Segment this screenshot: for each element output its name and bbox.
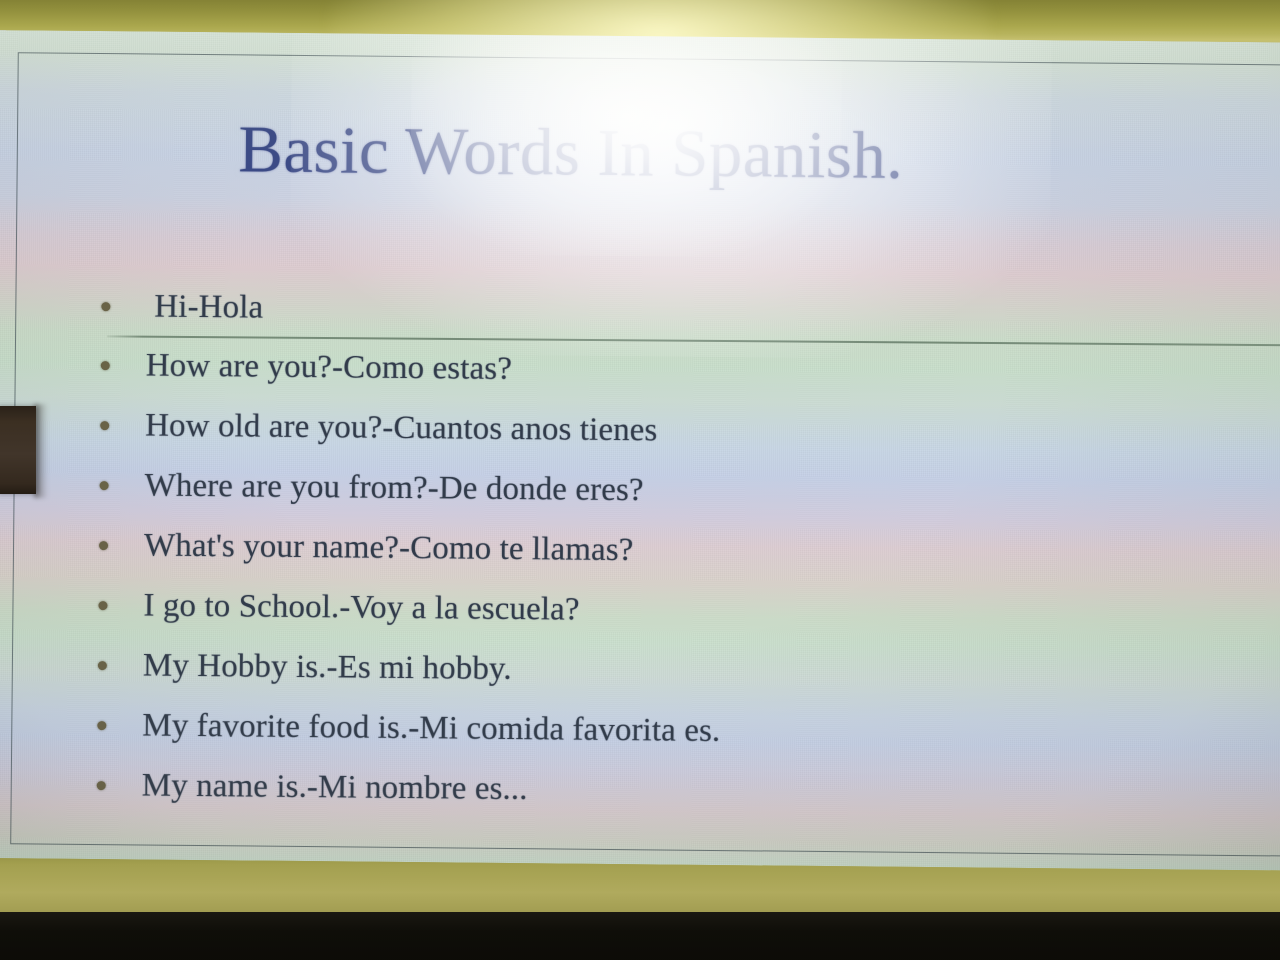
projected-slide-photo: Basic Words In Spanish. Hi-Hola How are … (0, 0, 1280, 960)
list-item-label: My favorite food is.-Mi comida favorita … (142, 708, 720, 748)
presentation-slide: Basic Words In Spanish. Hi-Hola How are … (0, 30, 1280, 870)
bullet-dot-icon (101, 302, 110, 311)
list-item-label: My Hobby is.-Es mi hobby. (143, 648, 512, 686)
list-item: Hi-Hola (101, 277, 1202, 346)
slide-content: Basic Words In Spanish. Hi-Hola How are … (0, 30, 1280, 870)
list-item-label: What's your name?-Como te llamas? (144, 528, 634, 567)
list-item-label: How are you?-Como estas? (146, 348, 513, 386)
list-item: My Hobby is.-Es mi hobby. (98, 635, 1199, 706)
left-edge-dark-object (0, 406, 36, 494)
bullet-dot-icon (100, 481, 109, 490)
list-item-label: How old are you?-Cuantos anos tienes (145, 408, 658, 448)
bullet-dot-icon (101, 361, 110, 370)
bullet-dot-icon (98, 661, 107, 670)
bullet-dot-icon (99, 541, 108, 550)
list-item: How old are you?-Cuantos anos tienes (100, 395, 1201, 466)
bullet-dot-icon (97, 721, 106, 730)
bullet-dot-icon (97, 781, 106, 790)
list-item: I go to School.-Voy a la escuela? (98, 575, 1199, 646)
list-item: Where are you from?-De donde eres? (99, 455, 1200, 526)
list-item-label: Where are you from?-De donde eres? (144, 468, 643, 507)
list-item-label: I go to School.-Voy a la escuela? (143, 588, 579, 627)
list-item-label: Hi-Hola (154, 289, 263, 325)
bullet-dot-icon (98, 601, 107, 610)
list-item: How are you?-Como estas? (101, 335, 1202, 406)
list-item: My favorite food is.-Mi comida favorita … (97, 695, 1198, 766)
left-object-shadow (34, 404, 48, 498)
list-item-label: My name is.-Mi nombre es... (142, 768, 528, 806)
slide-title: Basic Words In Spanish. (0, 114, 1151, 192)
bottom-black-band (0, 912, 1280, 960)
list-item: My name is.-Mi nombre es... (96, 755, 1197, 826)
bullet-dot-icon (100, 421, 109, 430)
bullet-list: Hi-Hola How are you?-Como estas? How old… (96, 277, 1201, 826)
list-item: What's your name?-Como te llamas? (99, 515, 1200, 586)
